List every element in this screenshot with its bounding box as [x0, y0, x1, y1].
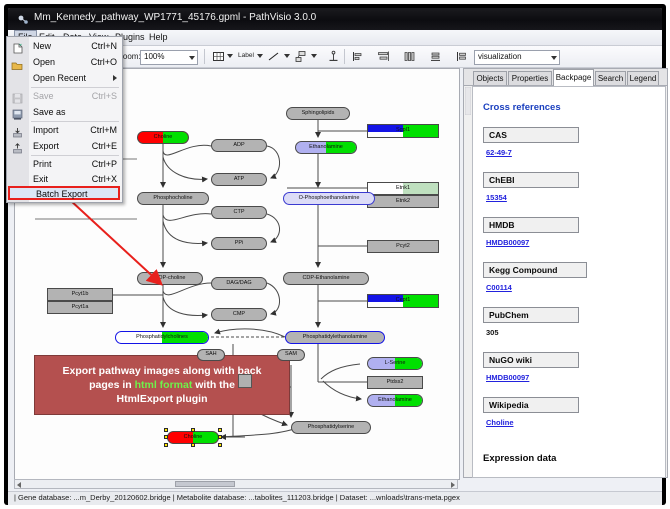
- toolbar-separator-3: [344, 49, 345, 64]
- visualization-combo[interactable]: visualization: [474, 50, 560, 65]
- node-etnk1[interactable]: Etnk1: [367, 182, 439, 195]
- node-l-serine[interactable]: L-Serine: [367, 357, 423, 370]
- node-dag[interactable]: DAG/DAG: [211, 277, 267, 290]
- distribute-icon[interactable]: [402, 49, 417, 64]
- panel-scroll-pip[interactable]: [465, 87, 471, 115]
- node-phosphatidylcholines[interactable]: Phosphatidylcholines: [115, 331, 209, 344]
- node-ppi[interactable]: PPi: [211, 237, 267, 250]
- node-label: Phosphatidylethanolamine: [303, 335, 368, 341]
- xref-label-chebi: ChEBI: [483, 172, 579, 188]
- grid-icon[interactable]: [211, 49, 226, 64]
- node-label: DAG/DAG: [226, 281, 251, 287]
- node-label: O-Phosphoethanolamine: [299, 196, 360, 202]
- resize-handle-nw[interactable]: [164, 428, 168, 432]
- file-menu-divider-3: [31, 155, 119, 156]
- tab-backpage[interactable]: Backpage: [553, 69, 594, 86]
- node-sgpl1[interactable]: Sgpl1: [367, 124, 439, 138]
- side-panel: Objects Properties Backpage Search Legen…: [463, 68, 668, 478]
- status-text: | Gene database: ...m_Derby_20120602.bri…: [14, 493, 460, 502]
- screenshot-root: Mm_Kennedy_pathway_WP1771_45176.gpml - P…: [0, 0, 670, 509]
- xref-label-wikipedia: Wikipedia: [483, 397, 579, 413]
- node-choline-bottom[interactable]: Choline: [167, 431, 219, 444]
- file-menu-item-export[interactable]: Export Ctrl+E: [7, 139, 122, 154]
- stack-icon[interactable]: [428, 49, 443, 64]
- file-menu-label-open: Open: [33, 57, 55, 67]
- node-label: Phosphocholine: [153, 196, 192, 202]
- resize-handle-ne[interactable]: [218, 428, 222, 432]
- xref-label-nugo: NuGO wiki: [483, 352, 579, 368]
- pathvisio-icon: [17, 13, 29, 25]
- xref-label-cas: CAS: [483, 127, 579, 143]
- toolbar-separator-2: [204, 49, 205, 64]
- xref-value-kegg[interactable]: C00114: [486, 283, 512, 292]
- file-menu-item-print[interactable]: Print Ctrl+P: [7, 157, 122, 172]
- xref-value-chebi[interactable]: 15354: [486, 193, 507, 202]
- file-menu-item-exit[interactable]: Exit Ctrl+X: [7, 172, 122, 187]
- node-label: SAM: [285, 352, 297, 358]
- selection-box: Choline: [163, 427, 223, 448]
- file-menu-label-save-as: Save as: [33, 107, 66, 117]
- file-menu-item-save[interactable]: Save Ctrl+S: [7, 89, 122, 104]
- node-label: Phosphatidylserine: [308, 425, 354, 431]
- backpage-content: Cross references CAS 62-49-7 ChEBI 15354…: [472, 86, 666, 478]
- file-menu-label-export: Export: [33, 141, 59, 151]
- node-label: CDP-choline: [155, 276, 186, 282]
- node-label: Phosphatidylcholines: [136, 335, 188, 341]
- node-label: CMP: [233, 312, 245, 318]
- node-label: SAH: [205, 352, 216, 358]
- node-label: Sphingolipids: [302, 111, 335, 117]
- node-cdp-choline[interactable]: CDP-choline: [137, 272, 203, 285]
- node-label: Choline: [184, 435, 203, 441]
- file-menu-label-import: Import: [33, 125, 59, 135]
- xref-value-cas[interactable]: 62-49-7: [486, 148, 512, 157]
- menu-help[interactable]: Help: [146, 31, 171, 44]
- node-ethanolamine-1[interactable]: Ethanolamine: [295, 141, 357, 154]
- node-label: Pcyt1b: [72, 292, 89, 298]
- zoom-value: 100%: [144, 52, 164, 61]
- file-menu-popup[interactable]: New Ctrl+N Open Ctrl+O Open Recent Save …: [6, 36, 123, 203]
- file-menu-label-new: New: [33, 41, 51, 51]
- node-phosphatidylethanolamine[interactable]: Phosphatidylethanolamine: [285, 331, 385, 344]
- node-label: Choline: [154, 135, 173, 141]
- node-label: ATP: [234, 177, 244, 183]
- node-ctp[interactable]: CTP: [211, 206, 267, 219]
- file-menu-label-open-recent: Open Recent: [33, 73, 86, 83]
- file-menu-label-exit: Exit: [33, 174, 48, 184]
- resize-handle-s[interactable]: [191, 443, 195, 447]
- tab-search[interactable]: Search: [595, 71, 626, 85]
- zoom-combo[interactable]: 100%: [140, 50, 198, 65]
- file-menu-accel-print: Ctrl+P: [92, 159, 117, 169]
- node-sphingolipids[interactable]: Sphingolipids: [286, 107, 350, 120]
- node-pcyt1b[interactable]: Pcyt1b: [47, 288, 113, 301]
- label-dropdown-arrow-icon[interactable]: [257, 54, 263, 58]
- cross-references-heading: Cross references: [483, 102, 561, 113]
- title-bar: Mm_Kennedy_pathway_WP1771_45176.gpml - P…: [8, 8, 662, 30]
- node-label: Ptdss2: [387, 380, 404, 386]
- node-ptdss2[interactable]: Ptdss2: [367, 376, 423, 389]
- file-menu-label-save: Save: [33, 91, 54, 101]
- scroll-left-arrow-icon[interactable]: [17, 482, 21, 488]
- file-menu-accel-export: Ctrl+E: [92, 141, 117, 151]
- xref-label-kegg: Kegg Compound: [483, 262, 587, 278]
- xref-value-hmdb[interactable]: HMDB00097: [486, 238, 529, 247]
- node-label: PPi: [235, 241, 244, 247]
- xref-label-hmdb: HMDB: [483, 217, 579, 233]
- line-dropdown-arrow-icon[interactable]: [284, 54, 290, 58]
- node-sam[interactable]: SAM: [277, 349, 305, 361]
- node-label: Etnk1: [396, 186, 410, 192]
- node-label: ADP: [233, 143, 244, 149]
- node-atp[interactable]: ATP: [211, 173, 267, 186]
- align-center-icon[interactable]: [376, 49, 391, 64]
- file-menu-item-new[interactable]: New Ctrl+N: [7, 39, 122, 54]
- submenu-arrow-icon: [113, 75, 117, 81]
- resize-handle-sw[interactable]: [164, 443, 168, 447]
- file-menu-item-import[interactable]: Import Ctrl+M: [7, 123, 122, 138]
- status-bar: | Gene database: ...m_Derby_20120602.bri…: [8, 491, 662, 505]
- xref-value-wikipedia[interactable]: Choline: [486, 418, 514, 427]
- node-pcyt2[interactable]: Pcyt2: [367, 240, 439, 253]
- node-adp[interactable]: ADP: [211, 139, 267, 152]
- canvas-hscrollbar[interactable]: [14, 479, 458, 489]
- node-phosphocholine[interactable]: Phosphocholine: [137, 192, 209, 205]
- annotation-line-1: Export pathway images along with back: [63, 365, 262, 377]
- tab-legend[interactable]: Legend: [627, 71, 659, 85]
- resize-handle-se[interactable]: [218, 443, 222, 447]
- node-label: L-Serine: [385, 361, 406, 367]
- node-cmp[interactable]: CMP: [211, 308, 267, 321]
- node-ethanolamine-2[interactable]: Ethanolamine: [367, 394, 423, 407]
- node-label: Pcyt1a: [72, 305, 89, 311]
- file-menu-accel-save: Ctrl+S: [92, 91, 117, 101]
- shape-dropdown-arrow-icon[interactable]: [311, 54, 317, 58]
- file-menu-accel-exit: Ctrl+X: [92, 174, 117, 184]
- node-sah[interactable]: SAH: [197, 349, 225, 361]
- line-icon[interactable]: [266, 49, 281, 64]
- node-etnk2[interactable]: Etnk2: [367, 195, 439, 208]
- annotation-line-2a: pages in: [89, 379, 135, 391]
- shape-icon[interactable]: [293, 49, 308, 64]
- file-menu-divider-2: [31, 121, 119, 122]
- file-menu-divider-1: [31, 87, 119, 88]
- file-menu-accel-open: Ctrl+O: [91, 57, 117, 67]
- align-left-icon[interactable]: [350, 49, 365, 64]
- resize-handle-w[interactable]: [164, 435, 168, 439]
- node-label: CTP: [234, 210, 245, 216]
- scrollbar-thumb[interactable]: [175, 481, 235, 487]
- file-menu-item-batch-export[interactable]: Batch Export: [8, 186, 120, 200]
- node-label: CDP-Ethanolamine: [302, 276, 349, 282]
- node-cept1[interactable]: Cept1: [367, 294, 439, 308]
- node-label: Ethanolamine: [378, 398, 412, 404]
- node-phosphatidylserine[interactable]: Phosphatidylserine: [291, 421, 371, 434]
- node-label: Sgpl1: [396, 128, 410, 134]
- annotation-line-2b: with the: [192, 379, 235, 391]
- file-menu-item-save-as[interactable]: Save as: [7, 105, 122, 120]
- file-menu-item-open[interactable]: Open Ctrl+O: [7, 55, 122, 70]
- xref-label-pubchem: PubChem: [483, 307, 579, 323]
- grid-dropdown-arrow-icon[interactable]: [227, 54, 233, 58]
- file-menu-label-print: Print: [33, 159, 52, 169]
- window-title: Mm_Kennedy_pathway_WP1771_45176.gpml - P…: [34, 12, 316, 23]
- tab-properties[interactable]: Properties: [508, 71, 552, 85]
- node-choline-top[interactable]: Choline: [137, 131, 189, 144]
- group-icon[interactable]: [454, 49, 469, 64]
- node-pcyt1a[interactable]: Pcyt1a: [47, 301, 113, 314]
- side-panel-tabs: Objects Properties Backpage Search Legen…: [464, 69, 667, 86]
- expression-data-heading: Expression data: [483, 453, 556, 464]
- xref-value-pubchem: 305: [486, 328, 499, 337]
- xref-value-nugo[interactable]: HMDB00097: [486, 373, 529, 382]
- file-menu-accel-new: Ctrl+N: [91, 41, 117, 51]
- anchor-icon[interactable]: [326, 49, 341, 64]
- file-menu-item-open-recent[interactable]: Open Recent: [7, 71, 122, 86]
- annotation-line-2-highlight: html format: [135, 379, 193, 391]
- node-label: Ethanolamine: [309, 145, 343, 151]
- node-o-phosphoethanolamine[interactable]: O-Phosphoethanolamine: [283, 192, 375, 205]
- chevron-down-icon: [189, 56, 195, 60]
- tab-objects[interactable]: Objects: [473, 71, 507, 85]
- resize-handle-e[interactable]: [218, 435, 222, 439]
- scroll-right-arrow-icon[interactable]: [451, 482, 455, 488]
- annotation-line-3: HtmlExport plugin: [117, 393, 208, 405]
- visualization-value: visualization: [478, 52, 522, 61]
- node-label: Pcyt2: [396, 244, 410, 250]
- label-button-text[interactable]: Label: [238, 52, 254, 59]
- annotation-text: Export pathway images along with back pa…: [57, 364, 268, 406]
- file-menu-accel-import: Ctrl+M: [90, 125, 117, 135]
- node-cdp-ethanolamine[interactable]: CDP-Ethanolamine: [283, 272, 369, 285]
- file-menu-label-batch-export: Batch Export: [36, 189, 88, 199]
- node-label: Cept1: [396, 298, 411, 304]
- chevron-down-icon-2: [551, 56, 557, 60]
- pathway-anchor-box: [238, 374, 252, 388]
- node-label: Etnk2: [396, 199, 410, 205]
